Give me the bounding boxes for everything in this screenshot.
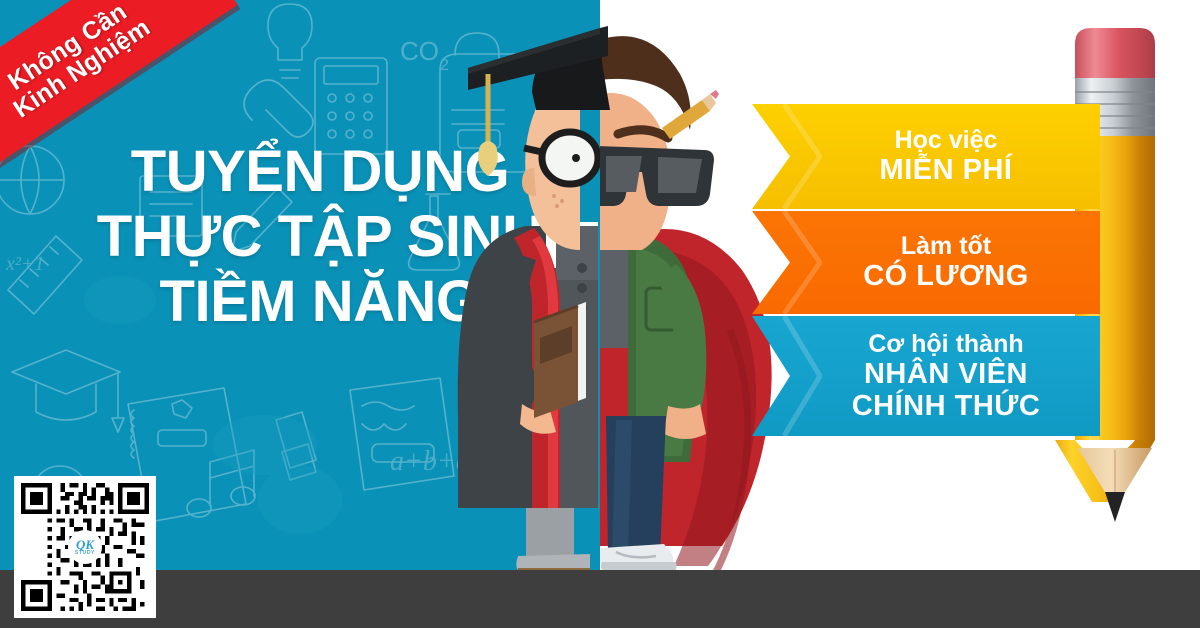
arrow-label: Cơ hội thành NHÂN VIÊN CHÍNH THỨC <box>812 330 1041 423</box>
split-character-illustration <box>430 0 790 585</box>
chevron-accent-icon <box>782 211 822 314</box>
ear-pencil <box>662 90 719 139</box>
chevron-accent-icon <box>782 104 822 209</box>
arrow-official-staff[interactable]: Cơ hội thành NHÂN VIÊN CHÍNH THỨC <box>752 316 1100 436</box>
recruitment-banner: CO 2 a+b+c x²+1 <box>0 0 1200 628</box>
arrow-line-3: CHÍNH THỨC <box>852 390 1041 422</box>
benefits-arrow-list: Học việc MIỄN PHÍ Làm tốt CÓ LƯƠNG Cơ hộ… <box>752 104 1100 444</box>
books <box>534 302 586 418</box>
arrow-free-training[interactable]: Học việc MIỄN PHÍ <box>752 104 1100 209</box>
graduate-body <box>458 222 598 578</box>
arrow-label: Làm tốt CÓ LƯƠNG <box>823 232 1029 292</box>
arrow-label: Học việc MIỄN PHÍ <box>840 126 1013 186</box>
qr-logo-sub: STUDY <box>75 551 95 556</box>
qr-center-logo: QK STUDY <box>68 530 102 564</box>
qr-code[interactable]: QK STUDY <box>14 476 156 618</box>
arrow-line-1: Cơ hội thành <box>852 330 1041 358</box>
arrow-paid-salary[interactable]: Làm tốt CÓ LƯƠNG <box>752 211 1100 314</box>
bottom-bar <box>0 570 1200 628</box>
arrow-line-2: MIỄN PHÍ <box>880 154 1013 186</box>
arrow-line-1: Làm tốt <box>863 232 1029 260</box>
arrow-line-2: CÓ LƯƠNG <box>863 260 1029 292</box>
casual-head <box>597 36 719 250</box>
arrow-line-1: Học việc <box>880 126 1013 154</box>
arrow-line-2: NHÂN VIÊN <box>852 358 1041 390</box>
sunglasses-icon <box>598 146 714 206</box>
